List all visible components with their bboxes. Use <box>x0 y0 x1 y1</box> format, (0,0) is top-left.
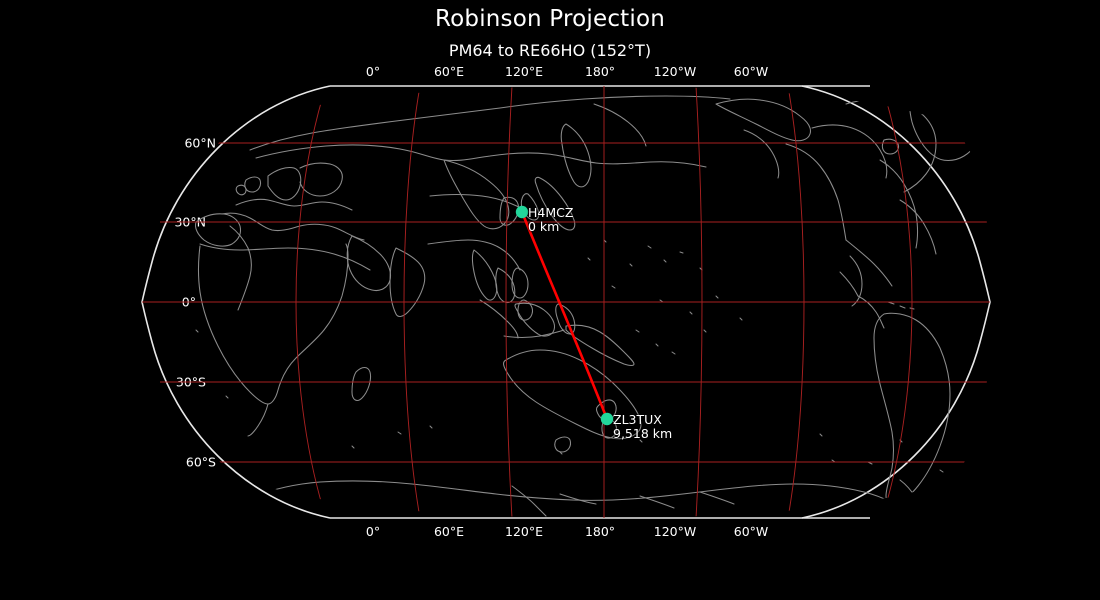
station-callsign-h4mcz: H4MCZ <box>528 206 573 220</box>
map-figure: Robinson Projection PM64 to RE66HO (152°… <box>0 0 1100 600</box>
station-callsign-zl3tux: ZL3TUX <box>613 413 672 427</box>
station-marker-zl3tux[interactable] <box>601 413 613 425</box>
station-marker-h4mcz[interactable] <box>516 206 528 218</box>
great-circle-path <box>522 212 607 419</box>
coastlines <box>195 95 978 516</box>
graticule <box>142 86 1058 518</box>
robinson-map <box>0 0 1100 600</box>
station-distance-h4mcz: 0 km <box>528 220 573 234</box>
station-label-zl3tux: ZL3TUX 9,518 km <box>613 413 672 440</box>
station-label-h4mcz: H4MCZ 0 km <box>528 206 573 233</box>
station-distance-zl3tux: 9,518 km <box>613 427 672 441</box>
